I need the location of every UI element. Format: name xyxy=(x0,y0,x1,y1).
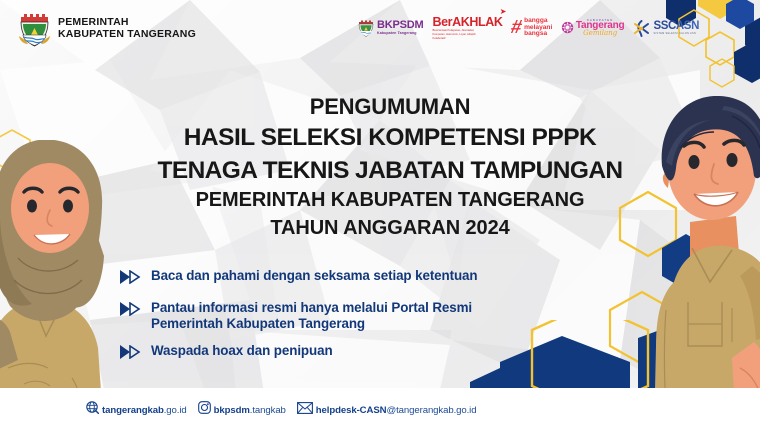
bkpsdm-emblem-icon xyxy=(358,19,374,37)
poster-header: PEMERINTAH KABUPATEN TANGERANG xyxy=(0,0,760,56)
tangerang-regency-emblem-icon xyxy=(18,11,51,47)
sscasn-subtitle: SISTEM SELEKSI CALON ASN xyxy=(653,33,699,36)
headline-line-3: TENAGA TEKNIS JABATAN TAMPUNGAN xyxy=(100,154,680,187)
list-item-text: Pantau informasi resmi hanya melalui Por… xyxy=(151,300,472,332)
double-arrow-icon xyxy=(120,270,142,289)
instagram-light: .tangkab xyxy=(250,405,286,416)
website-bold: tangerangkab xyxy=(102,405,164,416)
logo-bangga-melayani-bangsa: # bangga melayani bangsa xyxy=(511,11,552,45)
notice-list: Baca dan pahami dengan seksama setiap ke… xyxy=(120,268,590,364)
logo-tangerang-gemilang: ❂ KABUPATEN Tangerang Gemilang xyxy=(561,11,624,45)
email-light: @tangerangkab.go.id xyxy=(386,405,476,416)
bangga-line-3: bangsa xyxy=(524,31,552,38)
tangerang-wordmark: KABUPATEN Tangerang Gemilang xyxy=(576,19,625,38)
envelope-icon xyxy=(297,401,313,419)
contact-email[interactable]: helpdesk-CASN@tangerangkab.go.id xyxy=(297,401,477,419)
logo-berakhlak: BerAKHLAK Berorientasi Pelayanan, Akunta… xyxy=(432,11,502,45)
headline-line-1: PENGUMUMAN xyxy=(100,92,680,121)
headline-line-2: HASIL SELEKSI KOMPETENSI PPPK xyxy=(100,121,680,154)
instagram-bold: bkpsdm xyxy=(214,405,250,416)
logo-bkpsdm: BKPSDM Kabupaten Tangerang xyxy=(358,11,423,45)
bkpsdm-title: BKPSDM xyxy=(377,20,423,31)
tangerang-script: Gemilang xyxy=(576,30,625,37)
gov-line-2: KABUPATEN TANGERANG xyxy=(58,29,196,41)
berakhlak-swoosh-icon: ➤ xyxy=(500,8,507,16)
announcement-poster: PEMERINTAH KABUPATEN TANGERANG xyxy=(0,0,760,434)
bangga-hash-icon: # xyxy=(510,20,524,35)
sscasn-title-b: ASN xyxy=(676,20,699,32)
government-brand: PEMERINTAH KABUPATEN TANGERANG xyxy=(18,11,196,47)
list-item-text: Waspada hoax dan penipuan xyxy=(151,343,333,359)
list-item: Baca dan pahami dengan seksama setiap ke… xyxy=(120,268,590,289)
bkpsdm-wordmark: BKPSDM Kabupaten Tangerang xyxy=(377,20,423,36)
list-item-text: Baca dan pahami dengan seksama setiap ke… xyxy=(151,268,477,284)
website-light: .go.id xyxy=(164,405,187,416)
list-item: Pantau informasi resmi hanya melalui Por… xyxy=(120,300,590,332)
government-name: PEMERINTAH KABUPATEN TANGERANG xyxy=(58,17,196,41)
partner-logo-row: BKPSDM Kabupaten Tangerang BerAKHLAK Ber… xyxy=(358,8,699,48)
double-arrow-icon xyxy=(120,345,142,364)
berakhlak-title: BerAKHLAK xyxy=(432,16,502,29)
sscasn-mark-icon xyxy=(633,20,650,37)
list-item: Waspada hoax dan penipuan xyxy=(120,343,590,364)
globe-icon xyxy=(86,401,99,419)
double-arrow-icon xyxy=(120,302,142,321)
tangerang-ornament-icon: ❂ xyxy=(561,21,574,36)
bkpsdm-subtitle: Kabupaten Tangerang xyxy=(377,32,423,36)
email-bold: helpdesk-CASN xyxy=(316,405,387,416)
contact-website[interactable]: tangerangkab.go.id xyxy=(86,401,187,419)
sscasn-wordmark: SSCASN SISTEM SELEKSI CALON ASN xyxy=(653,21,699,36)
headline-line-4: PEMERINTAH KABUPATEN TANGERANG xyxy=(100,187,680,215)
bangga-wordmark: bangga melayani bangsa xyxy=(524,18,552,39)
berakhlak-subtitle: Berorientasi Pelayanan, Akuntabel, Kompe… xyxy=(432,29,484,40)
logo-sscasn: SSCASN SISTEM SELEKSI CALON ASN xyxy=(633,11,699,45)
headline-line-5: TAHUN ANGGARAN 2024 xyxy=(100,215,680,243)
sscasn-title-a: SSC xyxy=(653,20,675,32)
headline-block: PENGUMUMAN HASIL SELEKSI KOMPETENSI PPPK… xyxy=(100,92,680,243)
footer-contacts: tangerangkab.go.id bkpsdm.tangkab he xyxy=(86,401,476,419)
instagram-icon xyxy=(198,401,211,419)
contact-instagram[interactable]: bkpsdm.tangkab xyxy=(198,401,286,419)
